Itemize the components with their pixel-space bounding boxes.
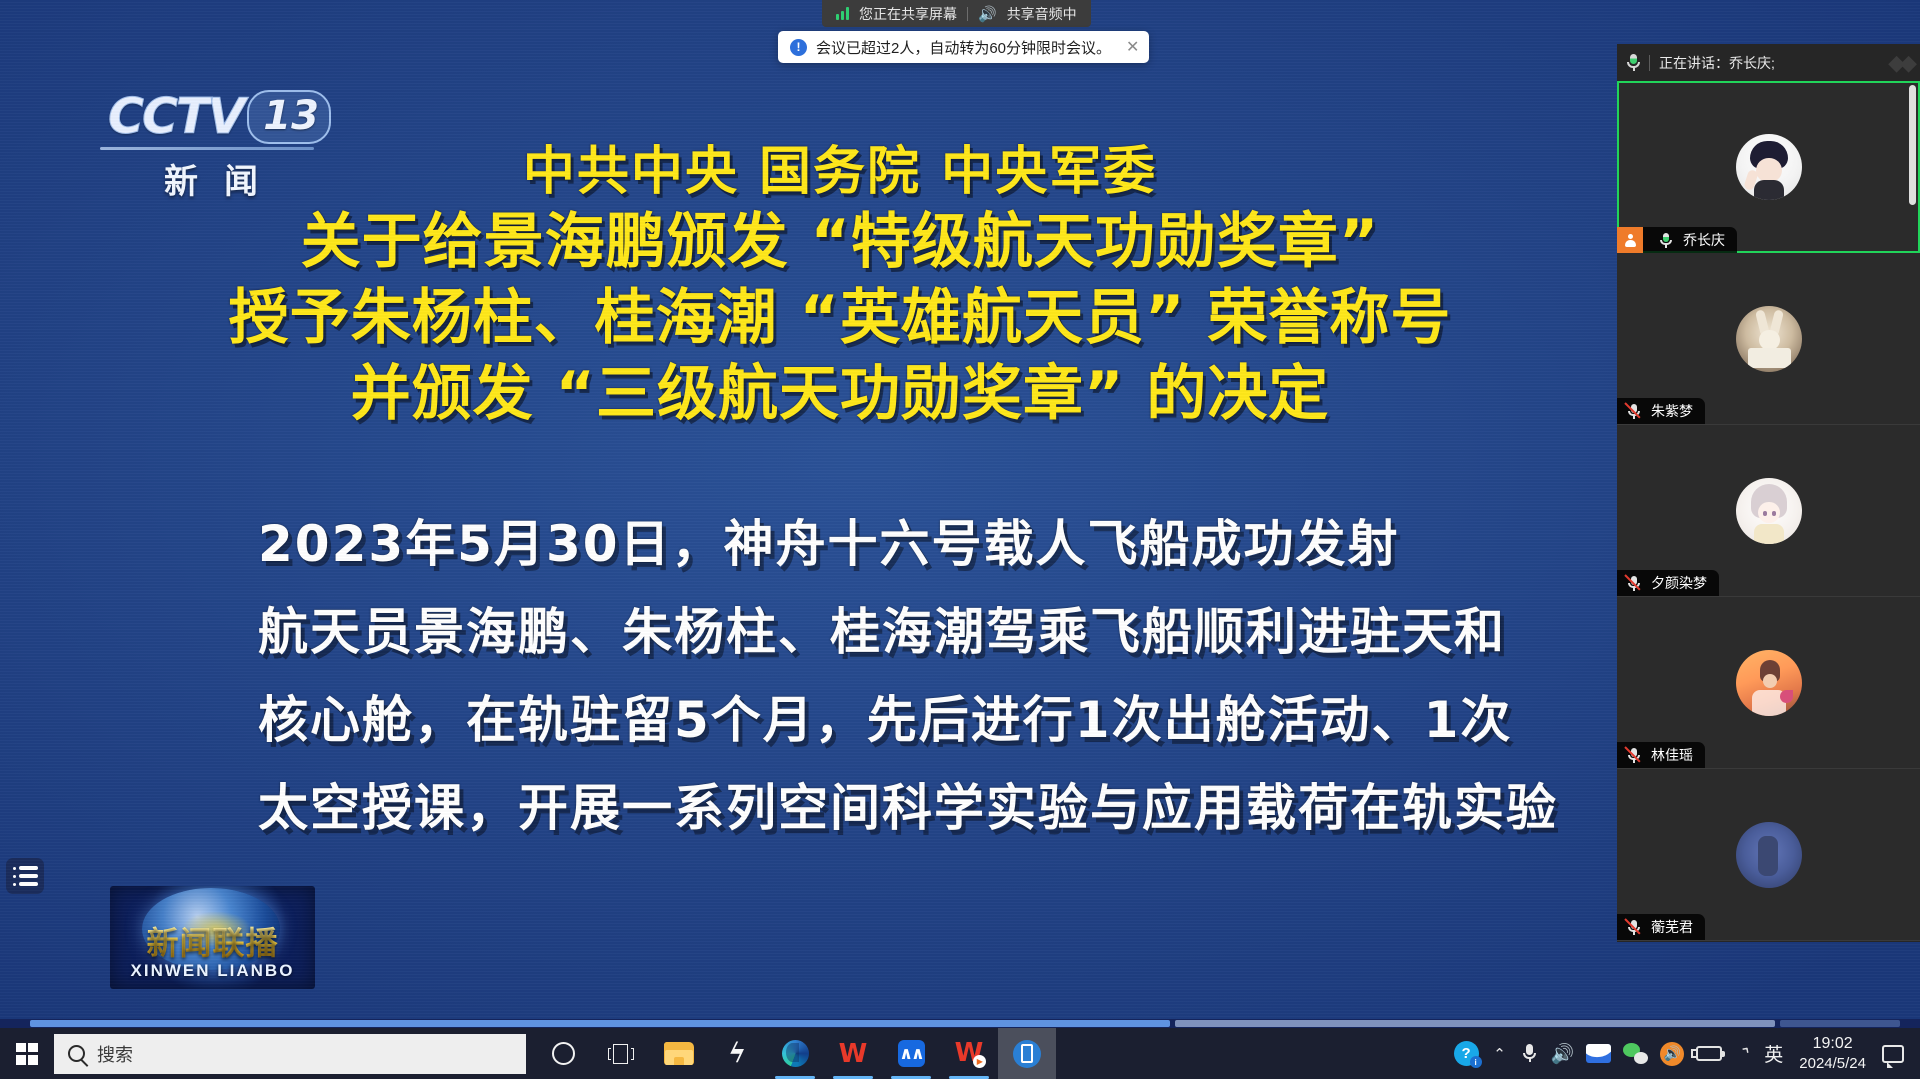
broadcast-headline: 中共中央 国务院 中央军委 关于给景海鹏颁发 “特级航天功勋奖章” 授予朱杨柱、… (0, 140, 1680, 432)
broadcast-body: 2023年5月30日，神舟十六号载人飞船成功发射 航天员景海鹏、朱杨柱、桂海潮驾… (258, 500, 1738, 852)
search-placeholder: 搜索 (97, 1041, 133, 1067)
participant-name: 乔长庆 (1683, 230, 1725, 250)
window-preview-strip (0, 1019, 1920, 1028)
screen-root: CCTV 13 新闻 CC 中共中央 国务院 中央军委 关于给景海鹏颁发 “特级… (0, 0, 1920, 1079)
headline-line-4: 并颁发 “三级航天功勋奖章” 的决定 (0, 356, 1680, 432)
close-icon[interactable]: ✕ (1126, 37, 1139, 57)
blue-silhouette-avatar (1736, 822, 1802, 888)
battery-icon[interactable] (1690, 1028, 1728, 1079)
taskbar-clock[interactable]: 19:02 2024/5/24 (1789, 1034, 1876, 1074)
microphone-muted-icon (1626, 919, 1643, 936)
microphone-active-icon (1627, 54, 1640, 71)
search-icon (68, 1045, 85, 1062)
phone-link-icon[interactable] (998, 1028, 1056, 1079)
active-speaker-header: 正在讲话：乔长庆; ◆◆ (1617, 44, 1920, 81)
ime-icon[interactable]: 英 (1758, 1028, 1789, 1079)
headline-line-3: 授予朱杨柱、桂海潮 “英雄航天员” 荣誉称号 (0, 280, 1680, 356)
panel-scrollbar-thumb[interactable] (1909, 85, 1916, 205)
banner-divider (967, 7, 968, 21)
file-explorer-icon[interactable] (650, 1028, 708, 1079)
bunny-reading-avatar (1736, 306, 1802, 372)
participant-name-chip: 夕颜染梦 (1617, 570, 1719, 596)
cortana-icon[interactable] (534, 1028, 592, 1079)
microphone-icon[interactable] (1515, 1028, 1545, 1079)
active-speaker-label: 正在讲话：乔长庆; (1659, 53, 1775, 73)
body-line-1: 2023年5月30日，神舟十六号载人飞船成功发射 (258, 500, 1738, 588)
wps-writer-icon[interactable]: W (824, 1028, 882, 1079)
participant-name: 蘅芜君 (1651, 917, 1693, 937)
share-audio-label: 共享音频中 (1007, 4, 1077, 24)
search-input[interactable]: 搜索 (54, 1034, 526, 1074)
participant-tile[interactable]: 林佳瑶 (1617, 597, 1920, 769)
participant-name-chip: 蘅芜君 (1617, 914, 1705, 940)
share-status-label: 您正在共享屏幕 (859, 4, 957, 24)
participant-name: 林佳瑶 (1651, 745, 1693, 765)
task-view-icon[interactable] (592, 1028, 650, 1079)
microphone-active-icon (1658, 232, 1675, 249)
participant-name-chip: 朱紫梦 (1617, 398, 1705, 424)
microphone-muted-icon (1626, 747, 1643, 764)
clock-date: 2024/5/24 (1799, 1054, 1866, 1074)
headline-line-1: 中共中央 国务院 中央军委 (0, 140, 1680, 204)
program-name-cn: 新闻联播 (146, 925, 278, 961)
toast-message: 会议已超过2人，自动转为60分钟限时会议。 (816, 37, 1111, 58)
windows-start-icon[interactable] (0, 1028, 54, 1079)
list-menu-icon[interactable] (6, 858, 44, 894)
microphone-muted-icon (1626, 575, 1643, 592)
host-person-icon (1617, 227, 1643, 253)
participants-panel: 正在讲话：乔长庆; ◆◆ 乔长庆 (1617, 44, 1920, 942)
screen-share-status-bar: 您正在共享屏幕 🔊 共享音频中 (822, 0, 1091, 27)
system-tray: ?i ⌃ 🔊 🔊 ⌃ 英 19:02 2024/5/24 (1448, 1028, 1920, 1079)
body-line-2: 航天员景海鹏、朱杨柱、桂海潮驾乘飞船顺利进驻天和 (258, 588, 1738, 676)
participant-name: 夕颜染梦 (1651, 573, 1707, 593)
anime-boy-avatar (1736, 134, 1802, 200)
sound-mixer-icon[interactable]: 🔊 (1654, 1028, 1690, 1079)
wifi-icon[interactable]: ⌃ (1728, 1028, 1758, 1079)
signal-bars-icon (836, 7, 849, 20)
clock-time: 19:02 (1813, 1034, 1853, 1054)
participant-tiles: 乔长庆 朱紫梦 (1617, 81, 1920, 942)
anime-girl-avatar (1736, 478, 1802, 544)
qq-help-icon[interactable]: ?i (1448, 1028, 1485, 1079)
participant-tile[interactable]: 蘅芜君 (1617, 769, 1920, 941)
volume-icon[interactable]: 🔊 (1545, 1028, 1581, 1079)
wechat-icon[interactable] (1617, 1028, 1654, 1079)
cctv-channel-number: 13 (247, 90, 331, 144)
body-line-3: 核心舱，在轨驻留5个月，先后进行1次出舱活动、1次 (258, 676, 1738, 764)
chevron-up-icon[interactable]: ⌃ (1485, 1028, 1515, 1079)
wps-video-icon[interactable]: W▶ (940, 1028, 998, 1079)
participant-name-chip: 乔长庆 (1617, 227, 1737, 253)
participant-name: 朱紫梦 (1651, 401, 1693, 421)
microphone-muted-icon (1626, 403, 1643, 420)
sunset-girl-avatar (1736, 650, 1802, 716)
meeting-app-icon[interactable]: ∧∧ (882, 1028, 940, 1079)
speaker-icon: 🔊 (978, 5, 997, 23)
mail-icon[interactable] (1580, 1028, 1617, 1079)
edge-icon[interactable] (766, 1028, 824, 1079)
header-divider (1649, 55, 1650, 71)
snipaste-icon[interactable]: ϟ (708, 1028, 766, 1079)
taskbar-app-icons: ϟ W ∧∧ W▶ (534, 1028, 1056, 1079)
participant-tile[interactable]: 夕颜染梦 (1617, 425, 1920, 597)
participant-name-chip: 林佳瑶 (1617, 742, 1705, 768)
meeting-limit-toast: ! 会议已超过2人，自动转为60分钟限时会议。 ✕ (778, 31, 1149, 63)
body-line-4: 太空授课，开展一系列空间科学实验与应用载荷在轨实验 (258, 764, 1738, 852)
info-icon: ! (790, 39, 807, 56)
program-name-en: XINWEN LIANBO (131, 961, 295, 981)
notification-center-icon[interactable] (1876, 1028, 1916, 1079)
headline-line-2: 关于给景海鹏颁发 “特级航天功勋奖章” (0, 204, 1680, 280)
collapse-chevrons-icon[interactable]: ◆◆ (1878, 52, 1912, 74)
participant-tile[interactable]: 朱紫梦 (1617, 253, 1920, 425)
participant-tile-active[interactable]: 乔长庆 (1617, 81, 1920, 253)
cctv-wordmark: CCTV (108, 88, 243, 145)
xinwen-lianbo-logo: 新闻联播 XINWEN LIANBO (110, 886, 315, 989)
windows-taskbar: 搜索 ϟ W ∧∧ W▶ ?i ⌃ (0, 1028, 1920, 1079)
